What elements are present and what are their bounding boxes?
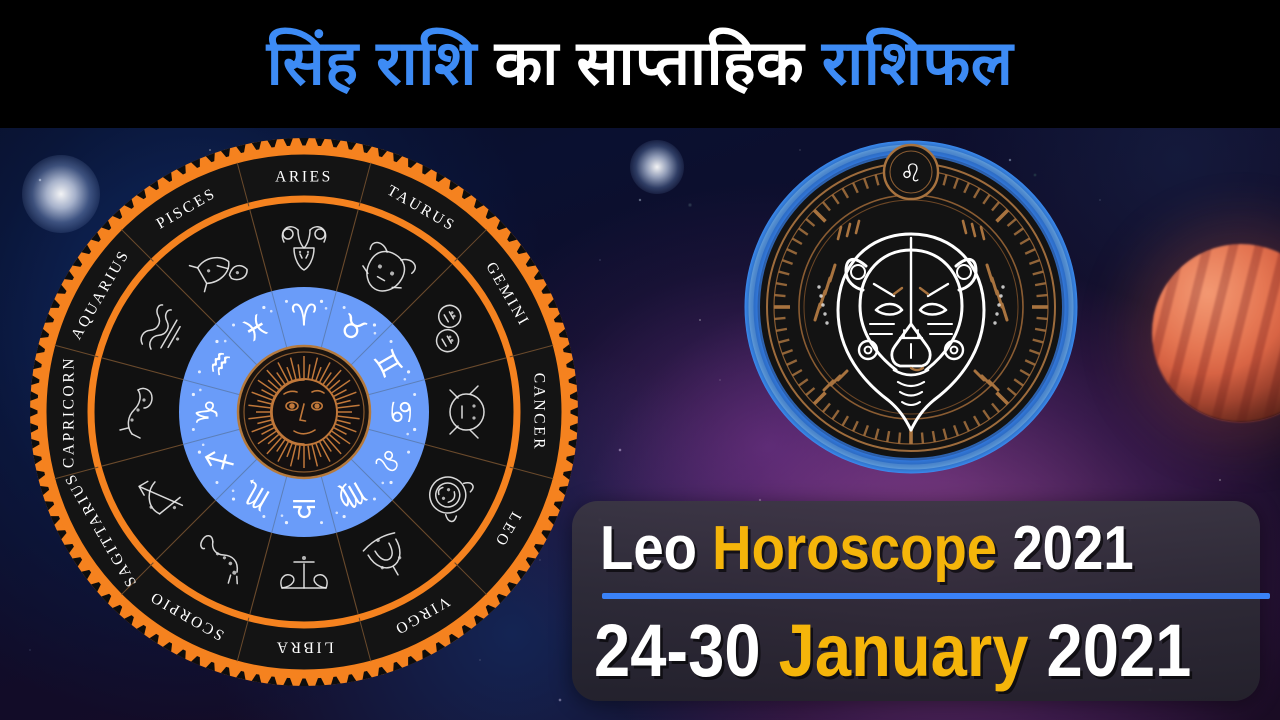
svg-text:LIBRA: LIBRA (274, 639, 334, 656)
date-range: 24-30 (594, 609, 761, 692)
horoscope-date-line: 24-30 January 2021 (594, 614, 1161, 688)
leo-medallion-graphic: ♌ (742, 138, 1080, 476)
bright-star-center (630, 140, 684, 194)
horoscope-sign-label: Leo (600, 514, 697, 583)
spacer-2 (997, 514, 1012, 583)
svg-text:♎: ♎ (291, 491, 318, 526)
svg-text:♋: ♋ (383, 399, 418, 426)
title-segment-blue-1: सिंह राशि (267, 29, 477, 98)
svg-text:♑: ♑ (191, 399, 226, 426)
title-segment-blue-2: राशिफल (822, 29, 1013, 98)
zodiac-wheel[interactable]: ARIESTAURUSGEMINICANCERLEOVIRGOLIBRASCOR… (28, 136, 580, 688)
date-year: 2021 (1047, 609, 1192, 692)
horoscope-word-highlight: Horoscope (712, 514, 997, 583)
leo-medallion[interactable]: ♌ (742, 138, 1080, 476)
panel-divider (602, 593, 1270, 599)
horoscope-year: 2021 (1012, 514, 1133, 583)
leo-glyph-badge: ♌ (884, 145, 938, 199)
svg-text:CAPRICORN: CAPRICORN (61, 356, 78, 468)
spacer-3 (761, 609, 779, 692)
horoscope-info-panel: Leo Horoscope 2021 24-30 January 2021 (572, 501, 1260, 701)
svg-text:♈: ♈ (291, 299, 318, 334)
poster-canvas: सिंह राशि का साप्ताहिक राशिफल (0, 0, 1280, 720)
horoscope-title-line: Leo Horoscope 2021 (600, 518, 1161, 580)
spacer-1 (697, 514, 712, 583)
spacer-4 (1028, 609, 1046, 692)
svg-text:ARIES: ARIES (275, 169, 333, 186)
zodiac-wheel-graphic: ARIESTAURUSGEMINICANCERLEOVIRGOLIBRASCOR… (28, 136, 580, 688)
leo-glyph: ♌ (900, 159, 922, 188)
title-segment-white: का साप्ताहिक (477, 29, 822, 98)
svg-text:CANCER: CANCER (531, 373, 548, 451)
wheel-center-sun (238, 346, 370, 478)
date-month: January (779, 609, 1029, 692)
header-bar: सिंह राशि का साप्ताहिक राशिफल (0, 0, 1280, 128)
page-title: सिंह राशि का साप्ताहिक राशिफल (259, 33, 1022, 95)
